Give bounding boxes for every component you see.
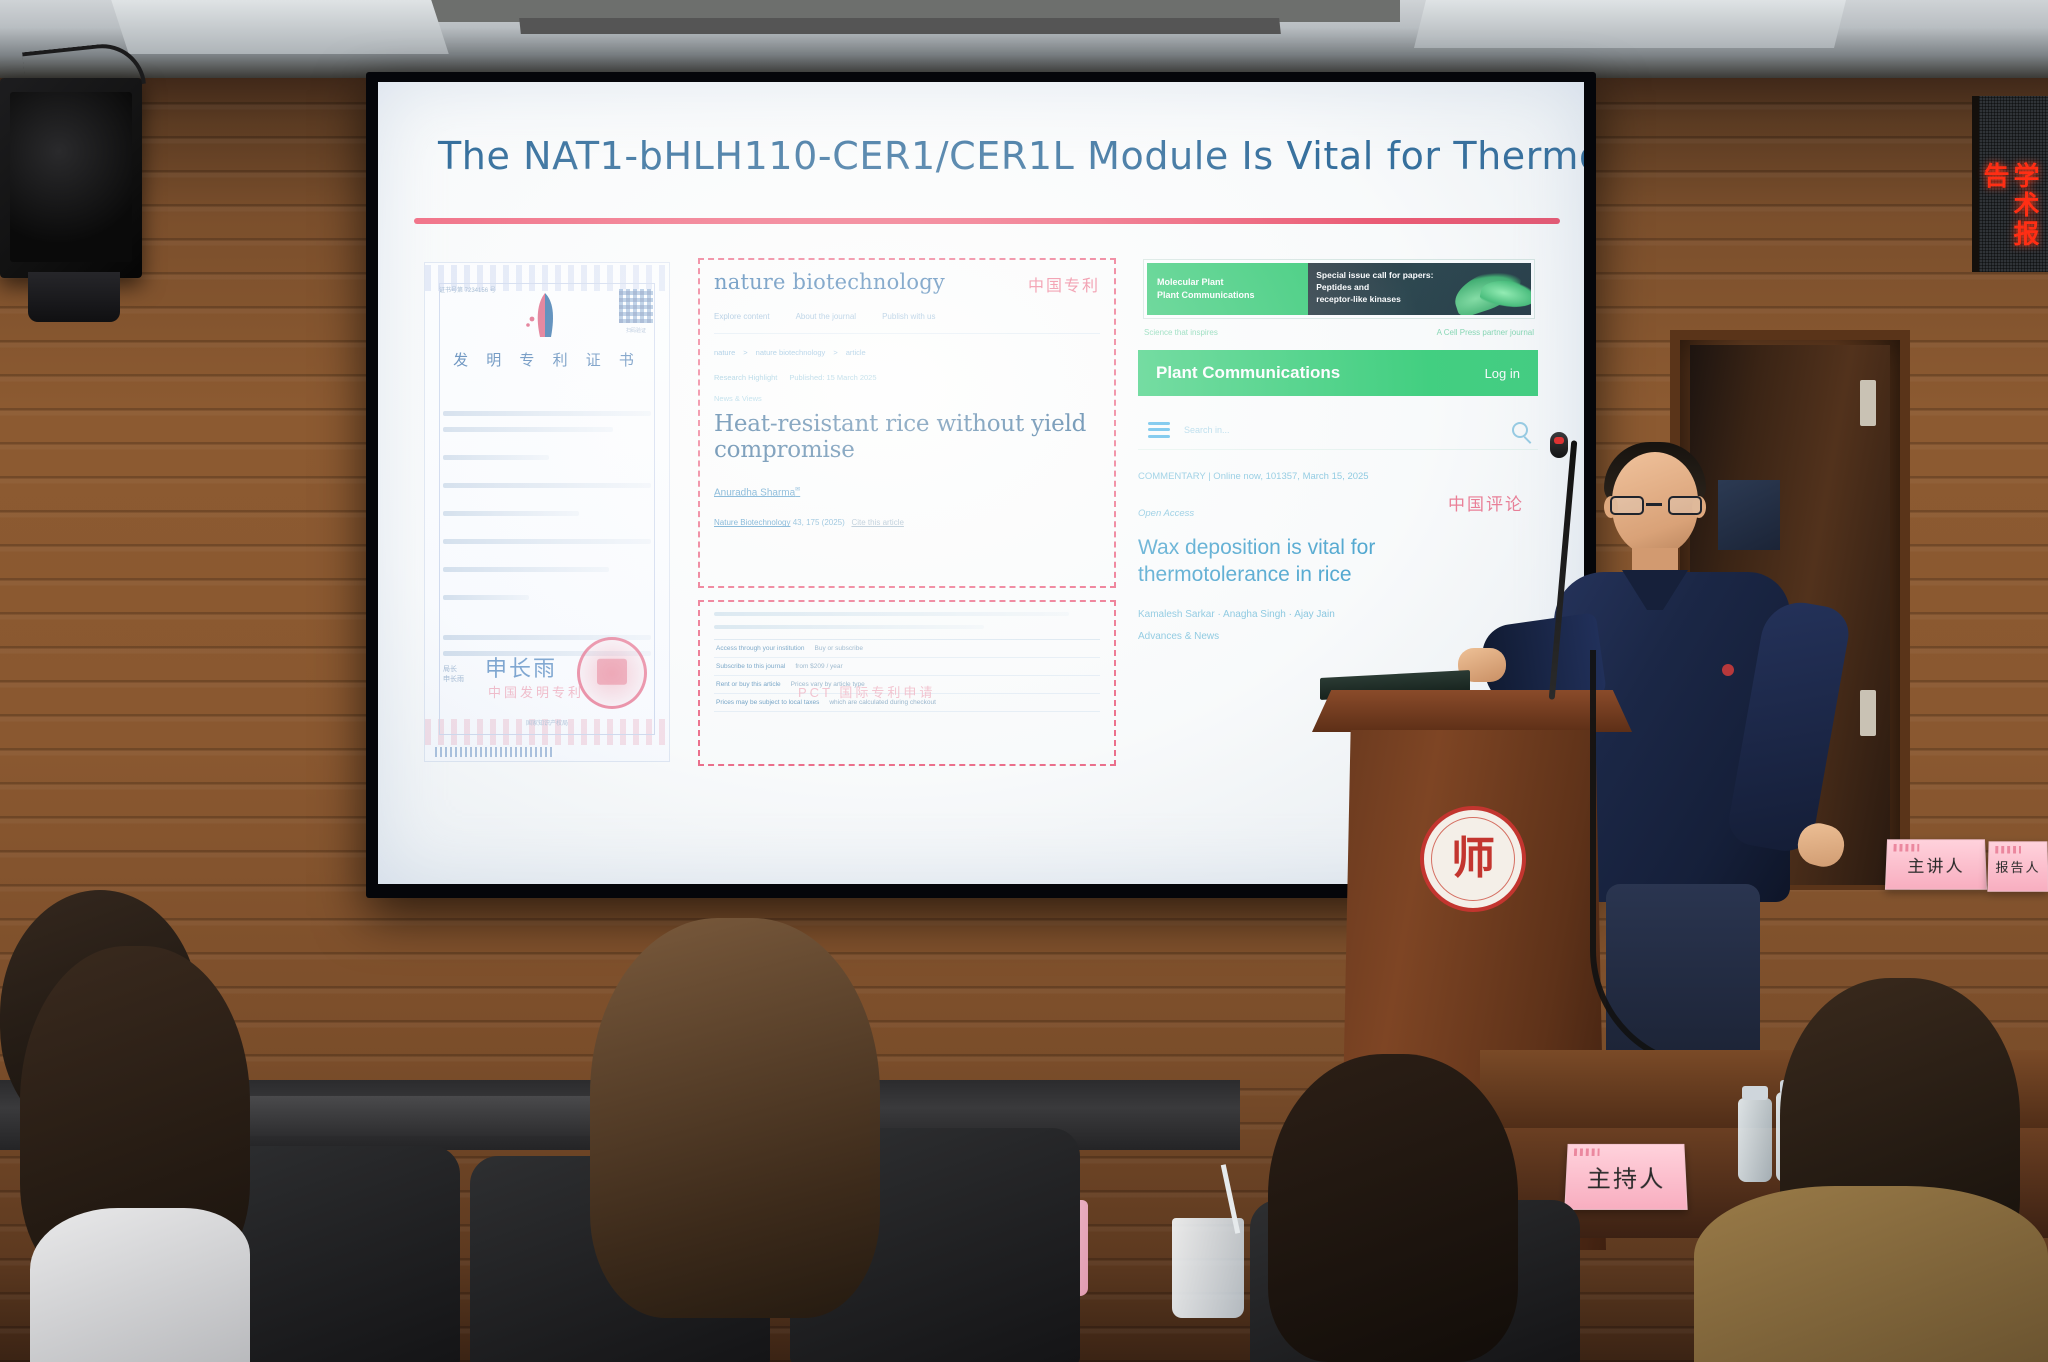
lapel-badge xyxy=(1722,664,1734,676)
journal-ad-brand: Molecular Plant Plant Communications xyxy=(1147,263,1308,315)
journal-ad-banner[interactable]: Molecular Plant Plant Communications Spe… xyxy=(1144,260,1534,318)
article-pubdate: Published: 15 March 2025 xyxy=(789,373,876,382)
citation-volume-page: 43, 175 (2025) xyxy=(793,518,845,527)
barcode-icon xyxy=(435,747,555,757)
ceiling-beam-2 xyxy=(519,18,1281,34)
login-link[interactable]: Log in xyxy=(1485,366,1520,381)
table-row[interactable]: Subscribe to this journal from $209 / ye… xyxy=(714,658,1100,676)
breadcrumb-journal[interactable]: nature biotechnology xyxy=(756,348,826,357)
placard-moderator: 主持人 xyxy=(1564,1144,1687,1210)
placard-speaker: 主讲人 xyxy=(1885,839,1987,889)
open-access-badge: Open Access xyxy=(1138,508,1194,519)
article-author-link[interactable]: Anuradha Sharma✉ xyxy=(714,486,1100,498)
breadcrumb-sep: > xyxy=(833,348,837,357)
plantcomm-search-bar: Search in... xyxy=(1138,410,1538,450)
nav-item-explore[interactable]: Explore content xyxy=(714,312,770,321)
slide-caption-middle: PCT 国际专利申请 xyxy=(798,682,935,701)
screenshot-root: 学术报告 The NAT1-bHLH110-CER1/CER1L Module … xyxy=(0,0,2048,1362)
article-type: Research Highlight xyxy=(714,373,777,382)
certificate-field-line xyxy=(443,427,613,432)
certificate-field-line xyxy=(443,483,651,488)
breadcrumb-nature[interactable]: nature xyxy=(714,348,735,357)
ceiling-panel-left xyxy=(111,0,449,54)
slide-caption-left: 中国发明专利 xyxy=(488,682,584,701)
plantcomm-cn-stamp: 中国评论 xyxy=(1448,490,1524,515)
placard-label: 主讲人 xyxy=(1907,852,1965,876)
microphone-head xyxy=(1550,432,1568,458)
journal-ad-message: Special issue call for papers: Peptides … xyxy=(1308,263,1531,315)
certificate-field-line xyxy=(443,511,579,516)
placard-label: 报告人 xyxy=(1995,857,2040,875)
abstract-placeholder-line xyxy=(714,625,984,629)
door-hinge-top xyxy=(1860,380,1876,426)
certificate-footer: 国家知识产权局 xyxy=(425,718,669,727)
nav-item-publish[interactable]: Publish with us xyxy=(882,312,935,321)
placard-logo-mark xyxy=(1574,1149,1600,1156)
plantcomm-header-bar: Plant Communications Log in xyxy=(1138,350,1538,396)
nature-biotech-nav-divider xyxy=(714,333,1100,334)
nature-biotech-nav: Explore content About the journal Publis… xyxy=(714,312,1100,321)
nature-article-headline: Heat-resistant rice without yield compro… xyxy=(714,411,1100,464)
search-input[interactable]: Search in... xyxy=(1184,425,1512,435)
water-bottle-1 xyxy=(1738,1098,1772,1182)
qr-code-caption: 扫码验证 xyxy=(613,327,659,334)
access-row-label: Access through your institution xyxy=(716,645,805,652)
certificate-field-line xyxy=(443,595,529,600)
access-options-table: Access through your institution Buy or s… xyxy=(714,639,1100,712)
placard-logo-mark xyxy=(1893,844,1919,852)
plantcomm-brand: Plant Communications xyxy=(1156,363,1340,383)
speaker-mount-bracket xyxy=(28,272,120,322)
bottle-cap-1 xyxy=(1742,1086,1768,1100)
title-divider-rule xyxy=(414,218,1560,224)
commentary-meta: COMMENTARY | Online now, 101357, March 1… xyxy=(1138,468,1428,485)
ad-brand-line1: Molecular Plant xyxy=(1157,276,1308,289)
article-citation: Nature Biotechnology 43, 175 (2025) Cite… xyxy=(714,518,1100,527)
certificate-title: 发 明 专 利 证 书 xyxy=(425,349,669,370)
breadcrumb-article: article xyxy=(846,348,866,357)
access-row-label: Rent or buy this article xyxy=(716,681,781,688)
certificate-field-line xyxy=(443,455,549,460)
ceiling-panel-right xyxy=(1414,0,1846,48)
audience-head-blonde xyxy=(590,918,880,1318)
breadcrumb: nature > nature biotechnology > article xyxy=(714,348,1100,357)
door-hinge-bottom xyxy=(1860,690,1876,736)
certificate-number: 证书号第 7234156 号 xyxy=(439,285,496,294)
podium-top-surface xyxy=(1312,690,1632,732)
article-section-label: News & Views xyxy=(714,394,1100,403)
access-row-value: Buy or subscribe xyxy=(815,645,863,652)
placard-speaker-2: 报告人 xyxy=(1987,841,2048,891)
certificate-field-line xyxy=(443,539,651,544)
nature-biotech-cn-stamp: 中国专利 xyxy=(1028,272,1100,296)
wall-speaker xyxy=(0,78,142,278)
audience-head xyxy=(1268,1054,1518,1362)
article-kicker: Research Highlight Published: 15 March 2… xyxy=(714,373,1100,382)
tagline-right: A Cell Press partner journal xyxy=(1437,328,1534,337)
ad-brand-line2: Plant Communications xyxy=(1157,289,1308,302)
drink-cup xyxy=(1172,1218,1244,1318)
breadcrumb-sep: > xyxy=(743,348,747,357)
nature-biotech-card: nature biotechnology 中国专利 Explore conten… xyxy=(698,258,1116,588)
cnipa-logo-icon xyxy=(521,289,569,341)
corresponding-author-icon: ✉ xyxy=(795,487,800,493)
audience-shoulder-white xyxy=(30,1208,250,1362)
plantcomm-authors: Kamalesh Sarkar · Anagha Singh · Ajay Ja… xyxy=(1138,604,1468,648)
led-display-text: 学术报告 xyxy=(1980,162,2040,272)
access-row-label: Subscribe to this journal xyxy=(716,663,785,670)
eyeglasses xyxy=(1610,496,1702,516)
tagline-left: Science that inspires xyxy=(1144,328,1218,337)
author-name: Anuradha Sharma xyxy=(714,487,795,498)
nav-item-about[interactable]: About the journal xyxy=(796,312,857,321)
hamburger-menu-icon[interactable] xyxy=(1148,422,1170,438)
plantcomm-section-label: Advances & News xyxy=(1138,626,1468,648)
search-icon[interactable] xyxy=(1512,422,1528,438)
certificate-signature-label: 局长申长雨 xyxy=(443,665,464,685)
cite-this-article-link[interactable]: Cite this article xyxy=(851,518,903,527)
led-display-panel: 学术报告 xyxy=(1972,96,2048,272)
qr-code-icon xyxy=(619,289,653,323)
placard-label: 主持人 xyxy=(1586,1159,1665,1193)
emblem-character: 师 xyxy=(1451,837,1495,881)
microphone-cable xyxy=(1590,650,1710,1070)
citation-journal[interactable]: Nature Biotechnology xyxy=(714,518,791,527)
audience-shoulder xyxy=(1694,1186,2048,1362)
access-row-value: from $209 / year xyxy=(795,663,842,670)
university-emblem: 师 xyxy=(1420,806,1526,912)
abstract-placeholder-line xyxy=(714,612,1069,616)
plantcomm-article-headline: Wax deposition is vital for thermotolera… xyxy=(1138,534,1468,588)
certificate-field-line xyxy=(443,567,609,572)
certificate-field-line xyxy=(443,411,651,416)
official-seal-stamp xyxy=(577,637,647,709)
slide-title: The NAT1-bHLH110-CER1/CER1L Module Is Vi… xyxy=(438,134,1538,178)
table-row[interactable]: Access through your institution Buy or s… xyxy=(714,640,1100,658)
certificate-signature: 申长雨 xyxy=(485,651,557,683)
placard-logo-mark xyxy=(1995,846,2021,854)
journal-taglines: Science that inspires A Cell Press partn… xyxy=(1144,328,1534,337)
author-list: Kamalesh Sarkar · Anagha Singh · Ajay Ja… xyxy=(1138,604,1468,626)
